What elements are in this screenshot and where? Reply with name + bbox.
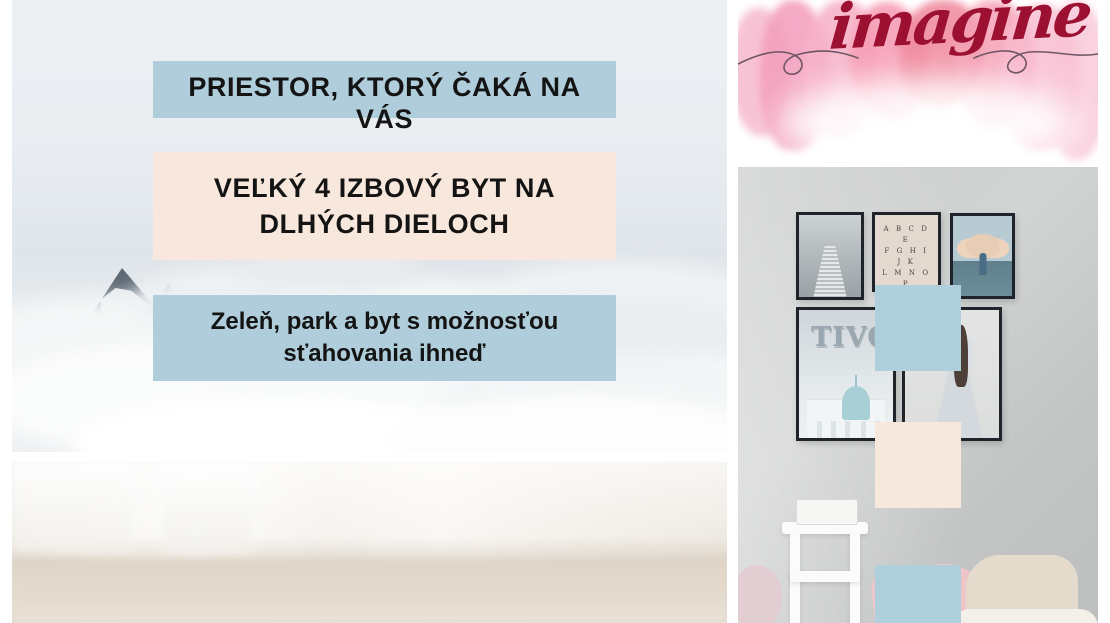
counter-surface [12,560,727,623]
imagine-watercolor-panel: imagine [738,0,1098,167]
kids-room-gallery-wall-photo: A B C D E F G H I J K L M N O P Q R S T … [738,167,1098,623]
alphabet-poster-frame: A B C D E F G H I J K L M N O P Q R S T … [872,212,941,292]
swatch-cream-middle [875,422,961,508]
headline-primary-banner: PRIESTOR, KTORÝ ČAKÁ NA VÁS [153,61,616,118]
subline-banner: Zeleň, park a byt s možnosťou sťahovania… [153,295,616,381]
headline-secondary-text: VEĽKÝ 4 IZBOVÝ BYT NA DLHÝCH DIELOCH [167,170,602,243]
home-sweet-interior-photo: HOME SWEET [12,462,727,623]
swatch-blue-bottom [875,565,961,623]
headline-secondary-banner: VEĽKÝ 4 IZBOVÝ BYT NA DLHÝCH DIELOCH [153,152,616,260]
step-stool-step [790,571,860,582]
swatch-blue-top [875,285,961,371]
pier-photo-frame [796,212,864,300]
headline-primary-text: PRIESTOR, KTORÝ ČAKÁ NA VÁS [167,72,602,136]
subline-text: Zeleň, park a byt s možnosťou sťahovania… [167,306,602,371]
mountain-above-clouds-photo: PRIESTOR, KTORÝ ČAKÁ NA VÁS VEĽKÝ 4 IZBO… [12,0,727,452]
collage-canvas: PRIESTOR, KTORÝ ČAKÁ NA VÁS VEĽKÝ 4 IZBO… [0,0,1110,623]
alphabet-poster-text: A B C D E F G H I J K L M N O P Q R S T … [875,215,938,289]
storage-basket [796,499,858,525]
window-light-mid [162,462,252,552]
window-light-left [12,462,132,552]
white-knit-cushion [952,609,1098,623]
